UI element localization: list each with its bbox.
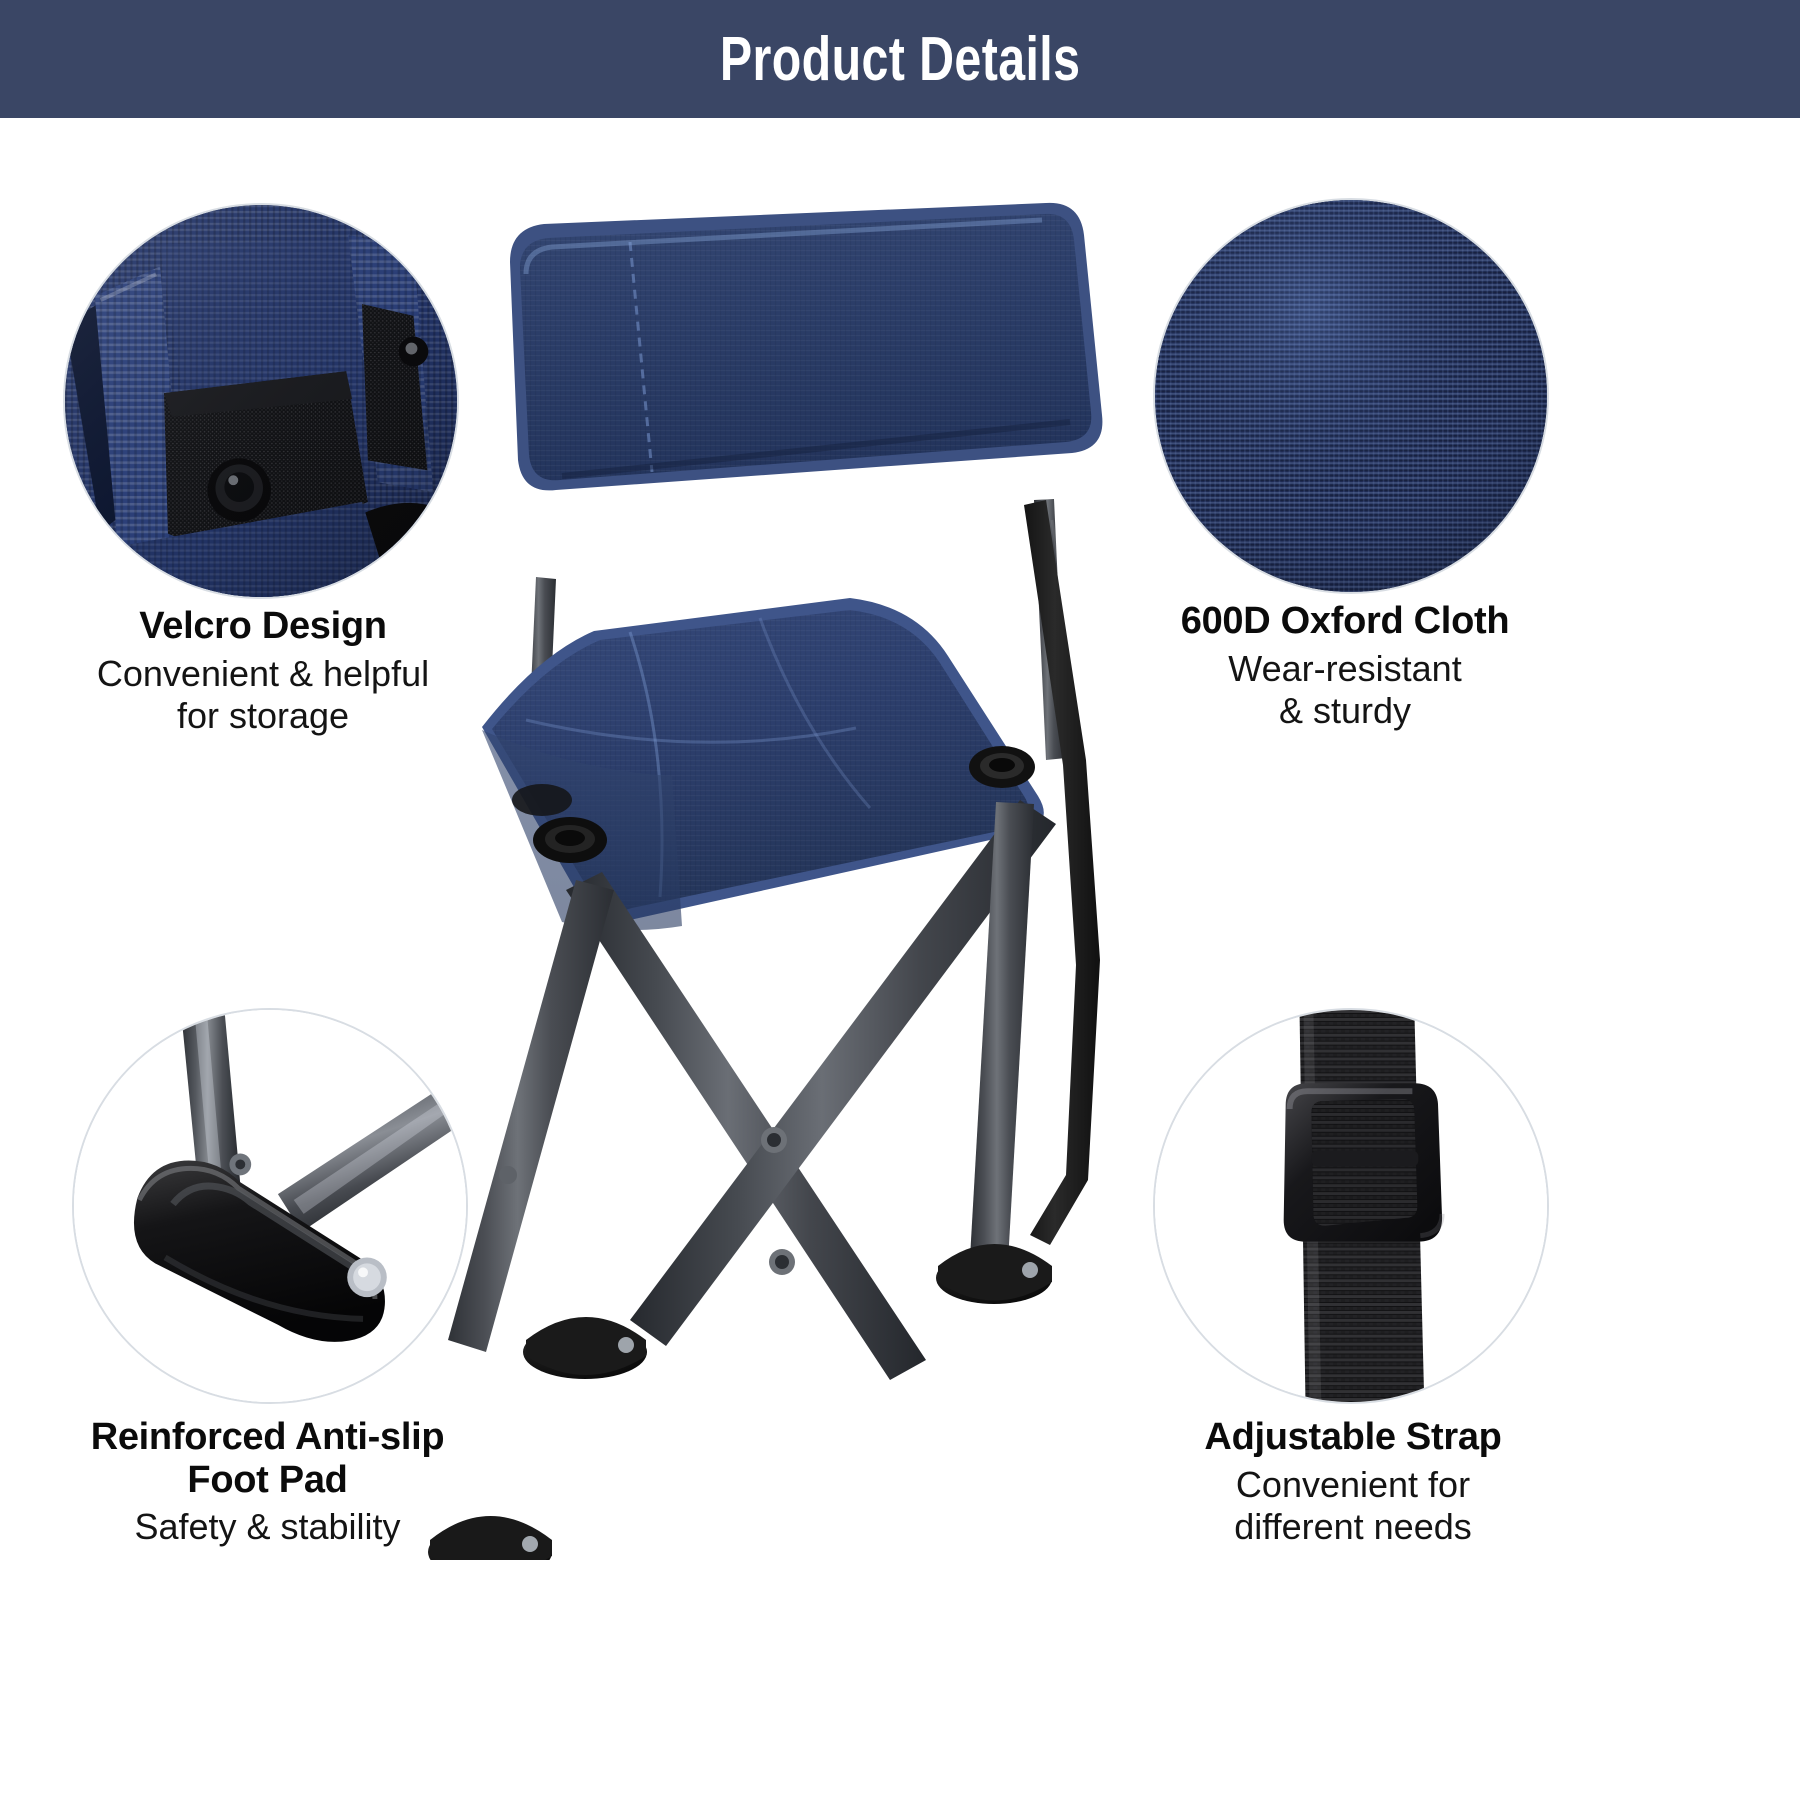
adjustable-strap-closeup-icon — [1153, 1008, 1549, 1404]
foot-pad-closeup-icon — [72, 1008, 468, 1404]
feature-caption: Reinforced Anti-slip Foot Pad Safety & s… — [35, 1416, 500, 1548]
foot-pad-photo — [74, 1010, 466, 1402]
oxford-cloth-photo — [1155, 200, 1547, 592]
feature-title: Reinforced Anti-slip Foot Pad — [35, 1416, 500, 1501]
feature-title: 600D Oxford Cloth — [1110, 600, 1580, 643]
feature-description: Wear-resistant & sturdy — [1110, 648, 1580, 732]
feature-description: Convenient & helpful for storage — [38, 653, 488, 737]
velcro-closeup-icon — [63, 203, 459, 599]
velcro-photo — [65, 205, 457, 597]
adjustable-strap-photo — [1155, 1010, 1547, 1402]
feature-caption: Velcro Design Convenient & helpful for s… — [38, 605, 488, 737]
oxford-cloth-closeup-icon — [1153, 198, 1549, 594]
product-details-page: Product Details — [0, 0, 1800, 1800]
feature-title: Velcro Design — [38, 605, 488, 648]
feature-description: Safety & stability — [35, 1506, 500, 1548]
feature-title: Adjustable Strap — [1118, 1416, 1588, 1459]
feature-caption: 600D Oxford Cloth Wear-resistant & sturd… — [1110, 600, 1580, 732]
header-bar: Product Details — [0, 0, 1800, 118]
feature-caption: Adjustable Strap Convenient for differen… — [1118, 1416, 1588, 1548]
feature-description: Convenient for different needs — [1118, 1464, 1588, 1548]
page-title: Product Details — [720, 24, 1081, 95]
